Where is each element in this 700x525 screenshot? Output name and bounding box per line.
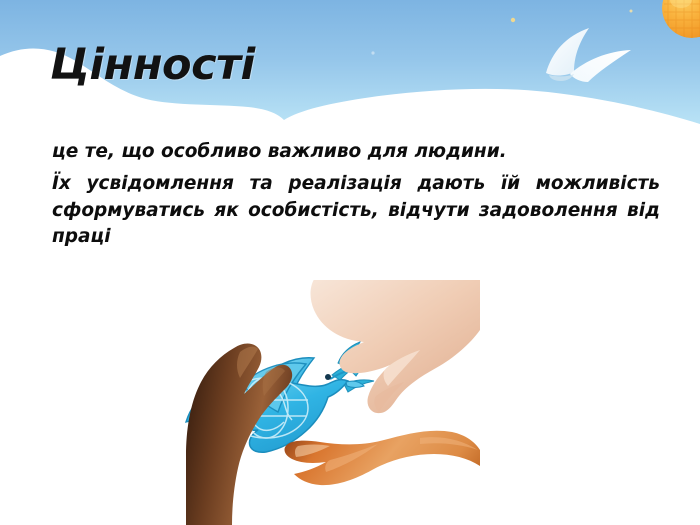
body-text-block: це те, що особливо важливо для людини. Ї…: [52, 139, 660, 256]
paragraph-explanation: Їх усвідомлення та реалізація дають їй м…: [52, 171, 660, 250]
page-title: Цінності: [50, 44, 255, 87]
dove-eye: [325, 374, 331, 380]
slide-canvas: Цінності це те, що особливо важливо для …: [0, 0, 700, 525]
paragraph-definition: це те, що особливо важливо для людини.: [52, 139, 660, 165]
sparkle-dot: [630, 10, 633, 13]
hands-and-dove-image: [180, 280, 480, 525]
sparkle-dot: [371, 51, 374, 54]
sparkle-dot: [511, 18, 515, 22]
